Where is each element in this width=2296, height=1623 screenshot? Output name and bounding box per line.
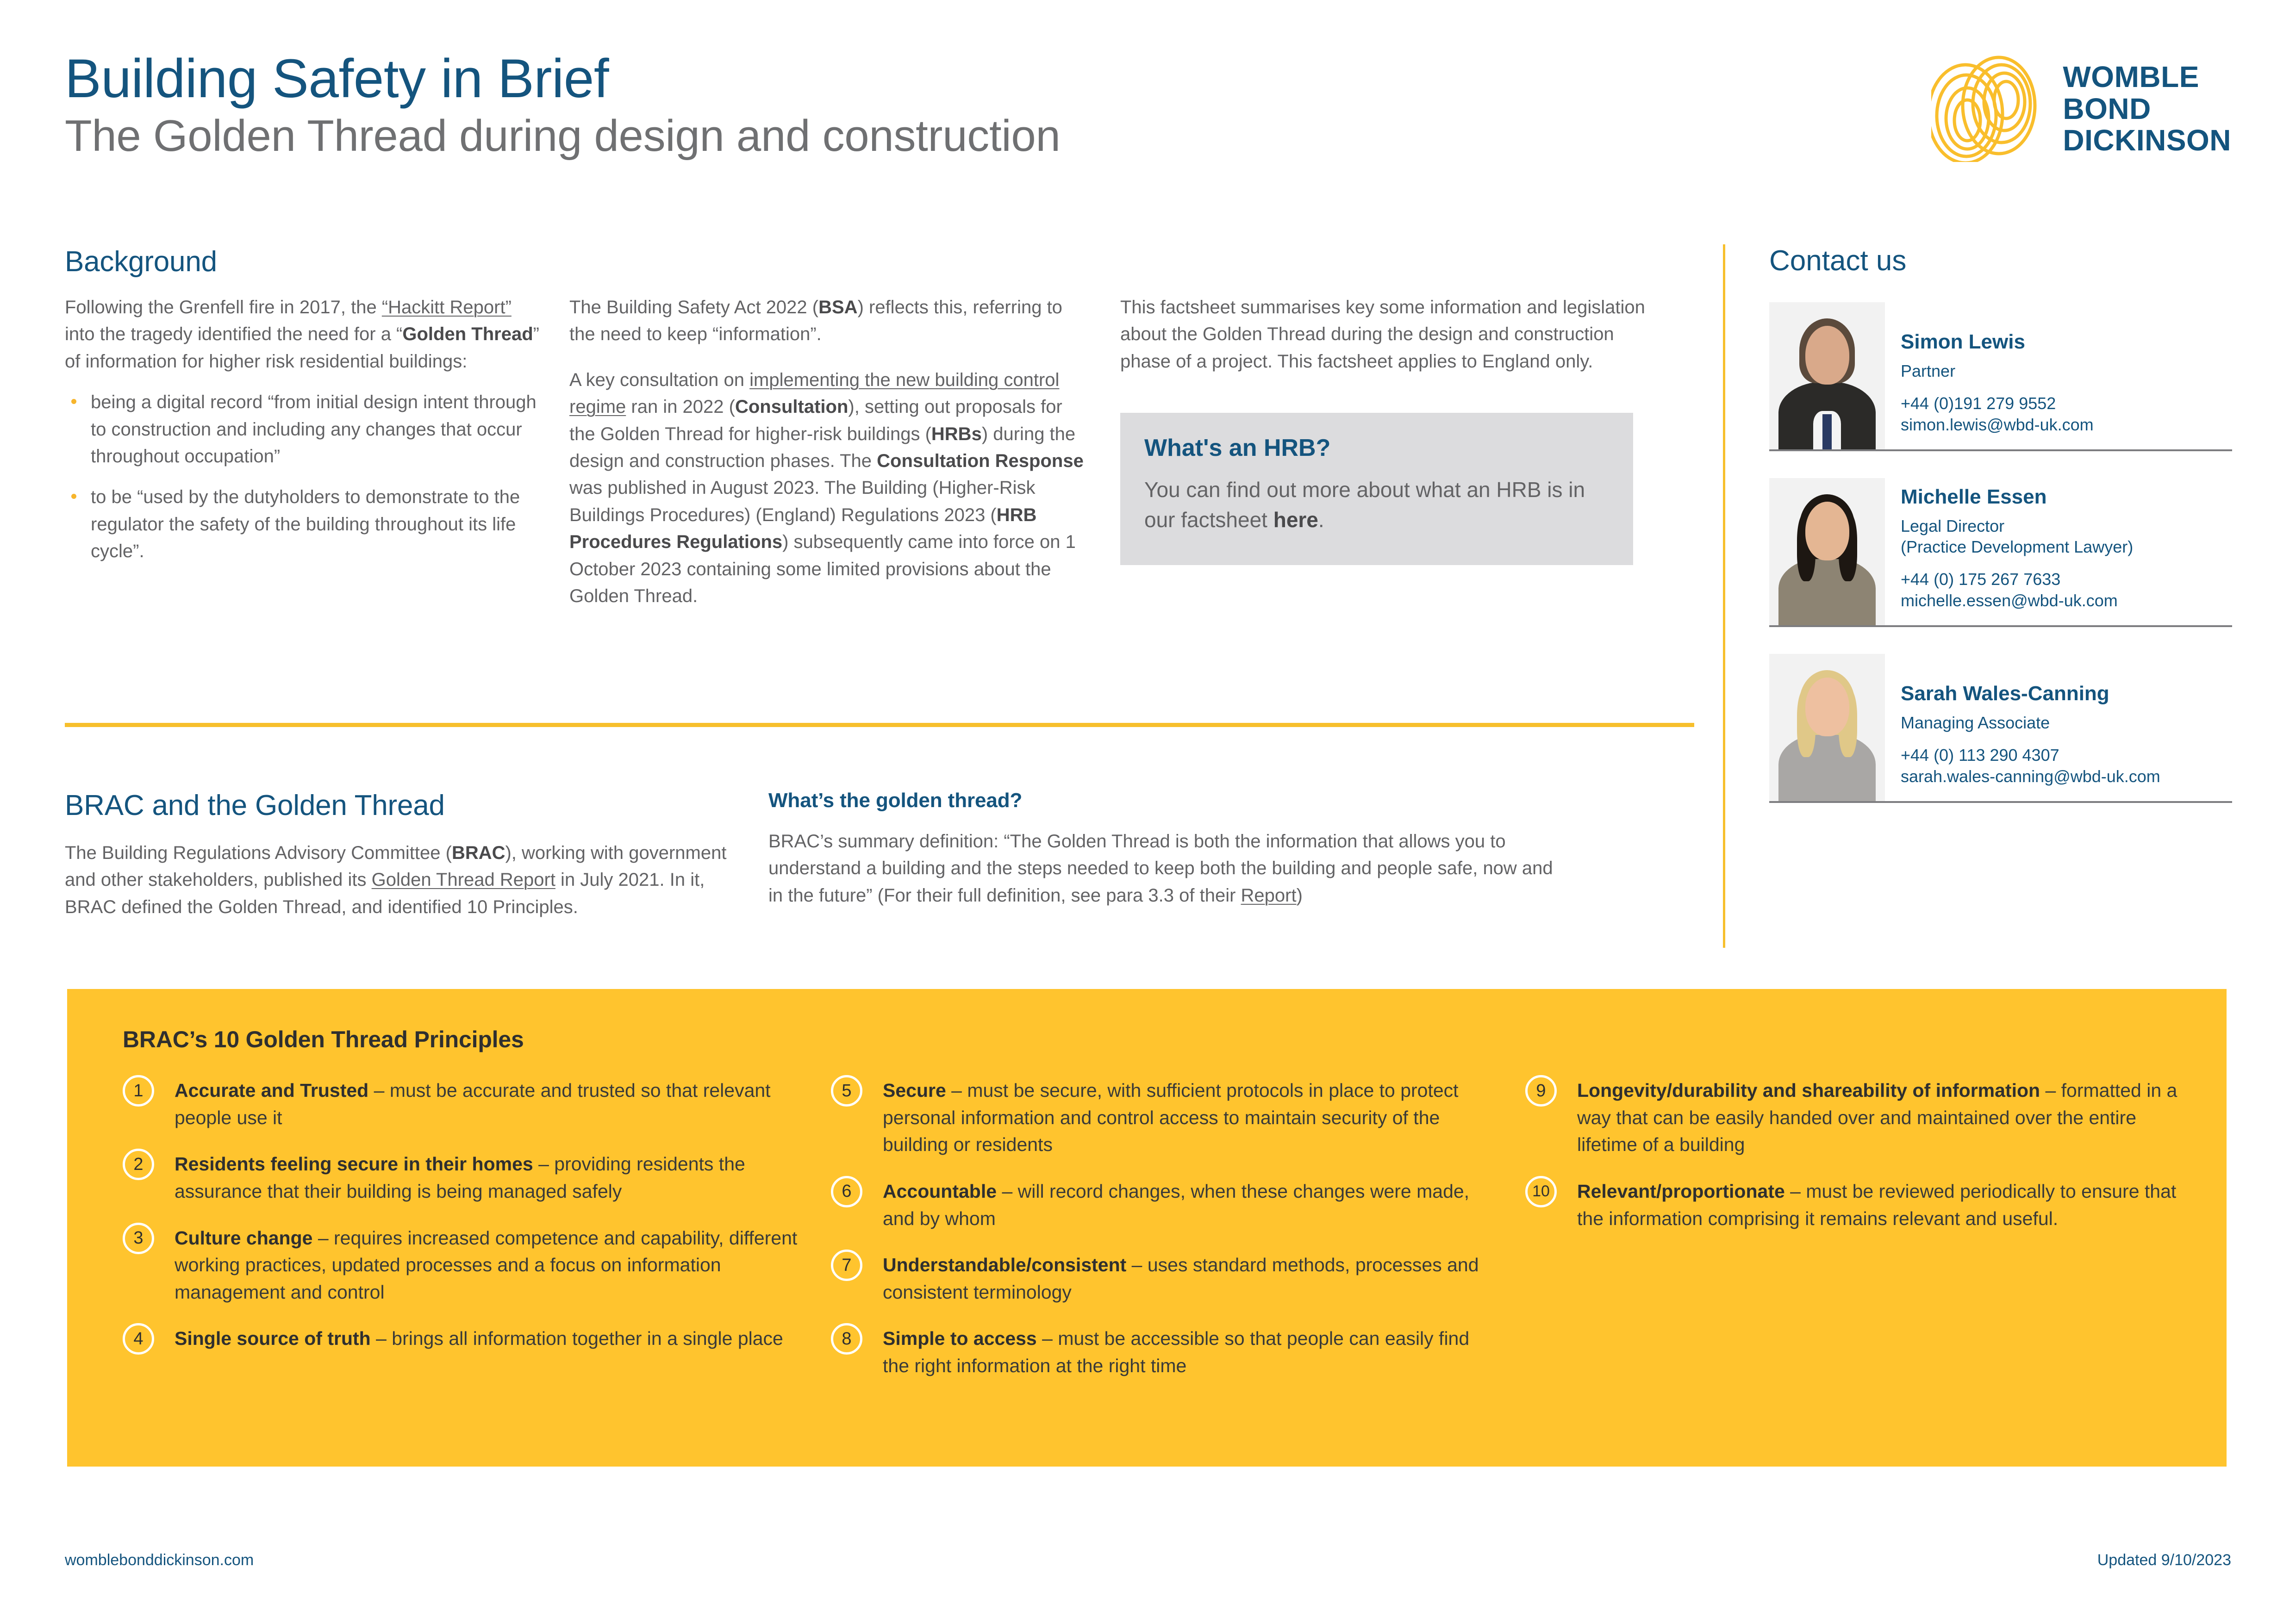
principle-number: 10 xyxy=(1525,1176,1557,1207)
avatar xyxy=(1769,302,1885,449)
principle-body: – must be secure, with sufficient protoc… xyxy=(883,1080,1459,1155)
principle-number: 4 xyxy=(123,1323,154,1355)
consultation-response-bold: Consultation Response xyxy=(877,451,1084,471)
factsheet-summary-paragraph: This factsheet summarises key some infor… xyxy=(1120,294,1666,375)
avatar xyxy=(1769,654,1885,801)
list-item: being a digital record “from initial des… xyxy=(65,389,542,470)
principle-text: Relevant/proportionate – must be reviewe… xyxy=(1577,1178,2180,1232)
contact-email[interactable]: simon.lewis@wbd-uk.com xyxy=(1901,414,2232,435)
principle-text: Culture change – requires increased comp… xyxy=(175,1225,799,1306)
page-subtitle: The Golden Thread during design and cons… xyxy=(65,111,2231,161)
principle-item: 10 Relevant/proportionate – must be revi… xyxy=(1525,1178,2180,1232)
background-paragraph-1: Following the Grenfell fire in 2017, the… xyxy=(65,294,542,375)
golden-thread-heading: What’s the golden thread? xyxy=(768,789,1555,812)
contact-email[interactable]: sarah.wales-canning@wbd-uk.com xyxy=(1901,766,2232,787)
brac-paragraph: The Building Regulations Advisory Commit… xyxy=(65,839,731,920)
contact-name: Sarah Wales-Canning xyxy=(1901,683,2232,705)
principles-heading: BRAC’s 10 Golden Thread Principles xyxy=(123,1026,2227,1053)
brand-logo: WOMBLE BOND DICKINSON xyxy=(1931,56,2231,162)
principle-item: 7 Understandable/consistent – uses stand… xyxy=(831,1251,1493,1306)
contact-phone[interactable]: +44 (0) 113 290 4307 xyxy=(1901,745,2232,766)
principle-title: Residents feeling secure in their homes xyxy=(175,1153,533,1175)
gt-part-b: ) xyxy=(1297,885,1303,906)
brac-abbrev: BRAC xyxy=(452,843,505,863)
contact-section: Contact us Simon Lewis Partner +44 (0)19… xyxy=(1769,244,2232,803)
principle-title: Relevant/proportionate xyxy=(1577,1181,1785,1202)
bg-p1-part-b: into the tragedy identified the need for… xyxy=(65,324,402,344)
brac-column: BRAC and the Golden Thread The Building … xyxy=(65,789,768,920)
contact-phone[interactable]: +44 (0) 175 267 7633 xyxy=(1901,569,2232,590)
principle-item: 9 Longevity/durability and shareability … xyxy=(1525,1077,2180,1158)
contact-email[interactable]: michelle.essen@wbd-uk.com xyxy=(1901,590,2232,611)
principle-text: Secure – must be secure, with sufficient… xyxy=(883,1077,1493,1158)
principle-text: Accurate and Trusted – must be accurate … xyxy=(175,1077,799,1131)
womble-rings-icon xyxy=(1931,56,2047,162)
background-bullet-list: being a digital record “from initial des… xyxy=(65,389,542,565)
contact-card: Sarah Wales-Canning Managing Associate +… xyxy=(1769,653,2232,803)
principle-text: Understandable/consistent – uses standar… xyxy=(883,1251,1493,1306)
bsa-paragraph: The Building Safety Act 2022 (BSA) refle… xyxy=(569,294,1088,348)
principle-title: Secure xyxy=(883,1080,946,1101)
bsa-part-a: The Building Safety Act 2022 ( xyxy=(569,297,818,317)
contact-role: Managing Associate xyxy=(1901,712,2232,733)
principle-text: Simple to access – must be accessible so… xyxy=(883,1325,1493,1379)
hackitt-report-link[interactable]: “Hackitt Report” xyxy=(382,297,512,317)
principle-text: Accountable – will record changes, when … xyxy=(883,1178,1493,1232)
principle-number: 8 xyxy=(831,1323,862,1355)
golden-thread-bold: Golden Thread xyxy=(402,324,533,344)
principle-number: 6 xyxy=(831,1176,862,1207)
principle-item: 5 Secure – must be secure, with sufficie… xyxy=(831,1077,1493,1158)
principle-title: Longevity/durability and shareability of… xyxy=(1577,1080,2040,1101)
background-column-3: This factsheet summarises key some infor… xyxy=(1120,294,1666,609)
factsheet-page: Building Safety in Brief The Golden Thre… xyxy=(0,0,2296,1623)
contact-card: Michelle Essen Legal Director (Practice … xyxy=(1769,477,2232,627)
principle-item: 4 Single source of truth – brings all in… xyxy=(123,1325,799,1352)
hrbs-bold: HRBs xyxy=(931,424,982,444)
contact-heading: Contact us xyxy=(1769,244,2232,277)
brand-line-1: WOMBLE xyxy=(2063,61,2231,93)
contact-name: Simon Lewis xyxy=(1901,331,2232,353)
contact-phone[interactable]: +44 (0)191 279 9552 xyxy=(1901,393,2232,414)
principle-number: 7 xyxy=(831,1250,862,1281)
page-footer: womblebonddickinson.com Updated 9/10/202… xyxy=(65,1551,2231,1569)
bsa-abbrev: BSA xyxy=(818,297,857,317)
principles-column-1: 1 Accurate and Trusted – must be accurat… xyxy=(123,1077,831,1399)
principle-number: 3 xyxy=(123,1223,154,1254)
footer-website[interactable]: womblebonddickinson.com xyxy=(65,1551,254,1569)
principle-title: Understandable/consistent xyxy=(883,1254,1126,1275)
principle-title: Culture change xyxy=(175,1227,312,1249)
principle-item: 8 Simple to access – must be accessible … xyxy=(831,1325,1493,1379)
principle-number: 1 xyxy=(123,1075,154,1107)
hrb-callout-heading: What's an HRB? xyxy=(1144,434,1609,462)
principle-body: – brings all information together in a s… xyxy=(371,1328,783,1349)
hrb-text-b: . xyxy=(1318,508,1324,532)
principle-item: 6 Accountable – will record changes, whe… xyxy=(831,1178,1493,1232)
footer-updated: Updated 9/10/2023 xyxy=(2097,1551,2231,1569)
list-item: to be “used by the dutyholders to demons… xyxy=(65,484,542,565)
consultation-paragraph: A key consultation on implementing the n… xyxy=(569,367,1088,610)
contact-card: Simon Lewis Partner +44 (0)191 279 9552 … xyxy=(1769,301,2232,451)
contact-role-secondary: (Practice Development Lawyer) xyxy=(1901,536,2232,557)
contact-name: Michelle Essen xyxy=(1901,486,2232,508)
contact-role: Legal Director xyxy=(1901,516,2232,536)
bg-p1-part-a: Following the Grenfell fire in 2017, the xyxy=(65,297,382,317)
brand-wordmark: WOMBLE BOND DICKINSON xyxy=(2063,61,2231,156)
principle-title: Single source of truth xyxy=(175,1328,371,1349)
hrb-callout-text: You can find out more about what an HRB … xyxy=(1144,475,1609,535)
principles-column-3: 9 Longevity/durability and shareability … xyxy=(1525,1077,2180,1399)
gold-vertical-divider xyxy=(1723,244,1725,948)
page-title: Building Safety in Brief xyxy=(65,51,2231,106)
background-heading: Background xyxy=(65,245,1694,278)
page-header: Building Safety in Brief The Golden Thre… xyxy=(65,51,2231,190)
principle-title: Accountable xyxy=(883,1181,997,1202)
background-column-2: The Building Safety Act 2022 (BSA) refle… xyxy=(569,294,1120,609)
background-section: Background Following the Grenfell fire i… xyxy=(65,245,1694,609)
brand-line-2: BOND xyxy=(2063,93,2231,124)
principle-text: Longevity/durability and shareability of… xyxy=(1577,1077,2180,1158)
background-column-1: Following the Grenfell fire in 2017, the… xyxy=(65,294,569,609)
principle-item: 2 Residents feeling secure in their home… xyxy=(123,1150,799,1205)
principle-item: 3 Culture change – requires increased co… xyxy=(123,1225,799,1306)
principle-text: Single source of truth – brings all info… xyxy=(175,1325,799,1352)
golden-thread-paragraph: BRAC’s summary definition: “The Golden T… xyxy=(768,828,1555,909)
principle-title: Accurate and Trusted xyxy=(175,1080,368,1101)
hrb-factsheet-link[interactable]: here xyxy=(1273,508,1318,532)
cons-part-a: A key consultation on xyxy=(569,370,749,390)
avatar xyxy=(1769,478,1885,625)
principles-column-2: 5 Secure – must be secure, with sufficie… xyxy=(831,1077,1525,1399)
cons-part-e: was published in August 2023. The Buildi… xyxy=(569,478,1036,525)
principle-item: 1 Accurate and Trusted – must be accurat… xyxy=(123,1077,799,1131)
cons-part-b: ran in 2022 ( xyxy=(626,397,735,417)
golden-thread-column: What’s the golden thread? BRAC’s summary… xyxy=(768,789,1555,920)
hrb-text-a: You can find out more about what an HRB … xyxy=(1144,478,1585,532)
principle-number: 2 xyxy=(123,1149,154,1180)
contact-role: Partner xyxy=(1901,361,2232,381)
brac-heading: BRAC and the Golden Thread xyxy=(65,789,731,822)
brand-line-3: DICKINSON xyxy=(2063,124,2231,156)
principle-title: Simple to access xyxy=(883,1328,1037,1349)
golden-thread-report-link[interactable]: Golden Thread Report xyxy=(372,870,555,890)
principle-text: Residents feeling secure in their homes … xyxy=(175,1150,799,1205)
brac-section: BRAC and the Golden Thread The Building … xyxy=(65,789,1694,920)
principle-number: 5 xyxy=(831,1075,862,1107)
gt-part-a: BRAC’s summary definition: “The Golden T… xyxy=(768,831,1553,906)
hrb-callout-box: What's an HRB? You can find out more abo… xyxy=(1120,413,1633,565)
principle-number: 9 xyxy=(1525,1075,1557,1107)
brac-part-a: The Building Regulations Advisory Commit… xyxy=(65,843,452,863)
principles-panel: BRAC’s 10 Golden Thread Principles 1 Acc… xyxy=(67,989,2227,1467)
brac-report-link[interactable]: Report xyxy=(1241,885,1297,906)
gold-horizontal-divider xyxy=(65,723,1694,727)
consultation-bold: Consultation xyxy=(735,397,848,417)
